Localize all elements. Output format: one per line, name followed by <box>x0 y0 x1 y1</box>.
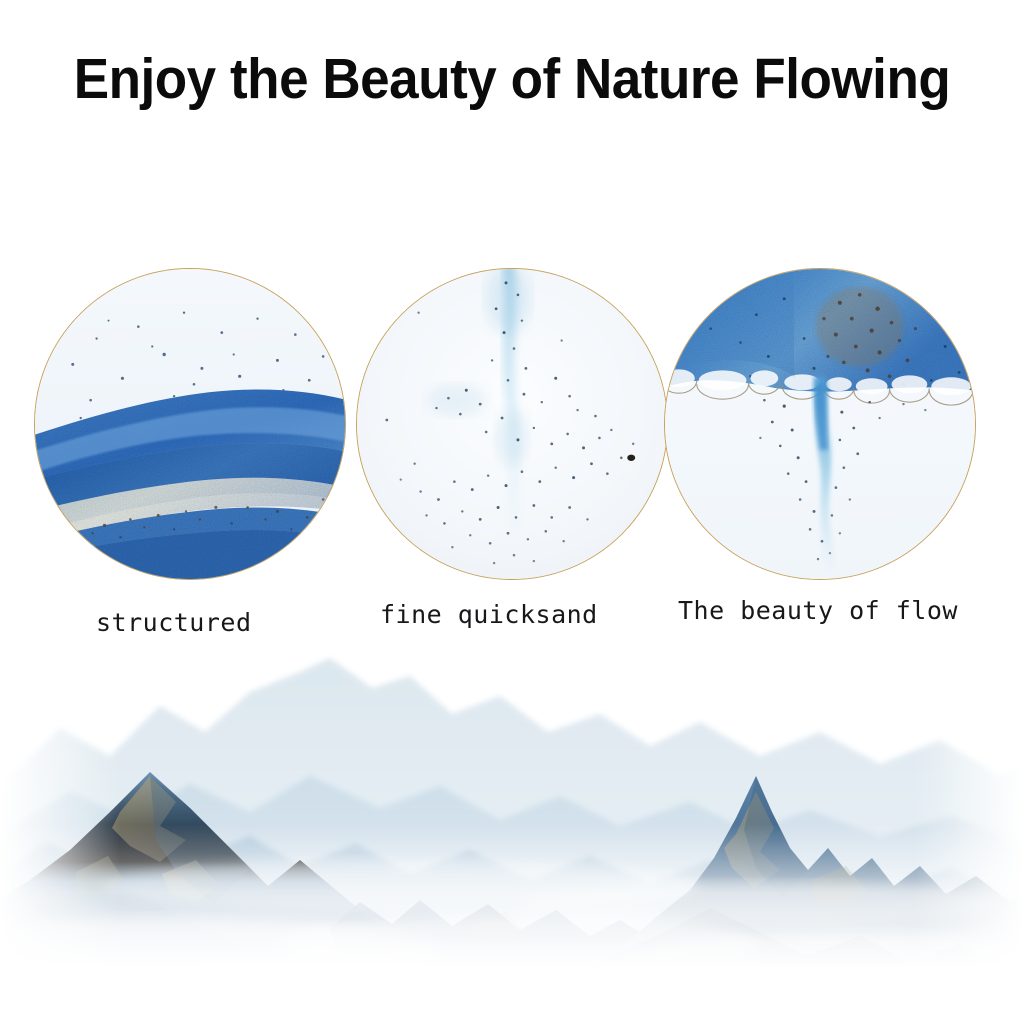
mountain-landscape <box>0 636 1024 1024</box>
sand-image-structured <box>35 269 345 579</box>
circle-frame-structured <box>34 268 346 580</box>
gallery-item-beauty-of-flow[interactable] <box>664 268 976 580</box>
circle-frame-fine-quicksand <box>356 268 668 580</box>
sand-image-fine-quicksand <box>357 269 667 579</box>
gallery-item-structured[interactable] <box>34 268 346 580</box>
caption-beauty-of-flow: The beauty of flow <box>678 596 958 625</box>
circle-frame-beauty-of-flow <box>664 268 976 580</box>
caption-fine-quicksand-line1: fine quicksand <box>380 600 598 629</box>
mountain-illustration <box>0 636 1024 1024</box>
poster-canvas: Enjoy the Beauty of Nature Flowing <box>0 0 1024 1024</box>
sand-sample-gallery <box>0 268 1024 580</box>
caption-structured: structured <box>96 608 252 637</box>
page-title: Enjoy the Beauty of Nature Flowing <box>36 50 988 110</box>
sand-image-beauty-of-flow <box>665 269 975 579</box>
gallery-item-fine-quicksand[interactable] <box>356 268 668 580</box>
